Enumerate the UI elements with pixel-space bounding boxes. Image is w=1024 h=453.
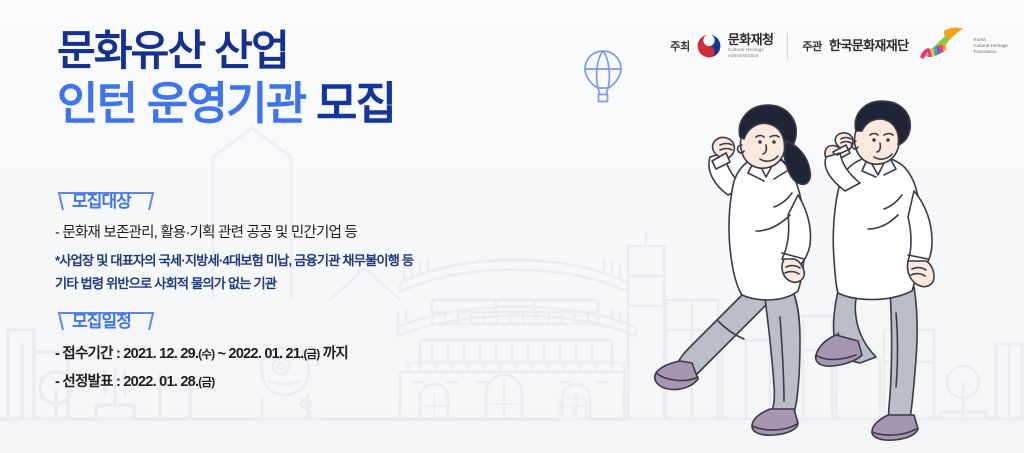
organizer-logo-group: 주관 한국문화재재단 Korea Cultural Heritage Fou (802, 26, 1008, 66)
organizer-role-label: 주관 (802, 38, 822, 54)
hot-air-balloon-icon (582, 48, 624, 104)
chf-swoosh-icon (916, 26, 964, 66)
organizer-name-en-block: Korea Cultural Heritage Foundation (974, 37, 1008, 55)
schedule-label-application: - 접수기간 : (55, 346, 123, 362)
schedule-tail-application: 까지 (319, 346, 347, 362)
headline-line-2-part2: 모집 (316, 78, 395, 129)
headline-line-2: 인턴 운영기관 모집 (57, 77, 395, 131)
section-tag-recruit-target: 모집대상 (55, 184, 148, 214)
headline-block: 문화유산 산업 인턴 운영기관 모집 (57, 26, 395, 131)
logo-divider (787, 33, 788, 59)
host-role-label: 주최 (670, 38, 690, 54)
recruit-target-note-1: *사업장 및 대표자의 국세·지방세·4대보험 미납, 금융기관 채무불이행 등 (55, 250, 413, 269)
schedule-row-application: - 접수기간 : 2021. 12. 29.(수) ~ 2022. 01. 21… (55, 342, 348, 363)
sponsor-logos: 주최 문화재청 Cultural Heritage Administration… (670, 26, 1008, 66)
schedule-day-application-end: (금) (303, 349, 319, 361)
recruit-target-note-2: 기타 법령 위반으로 사회적 물의가 없는 기관 (55, 273, 413, 292)
two-business-people-walking-illustration (640, 95, 1024, 453)
schedule-value-announcement: 2022. 01. 28. (123, 374, 198, 390)
schedule-value-application-start: 2021. 12. 29. (123, 346, 198, 362)
section-tag-label: 모집일정 (72, 312, 131, 331)
section-recruit-target: 모집대상 - 문화재 보존관리, 활용·기획 관련 공공 및 민간기업 등 *사… (55, 184, 413, 292)
schedule-row-announcement: - 선정발표 : 2022. 01. 28.(금) (55, 370, 348, 391)
organizer-name-ko: 한국문화재재단 (829, 39, 909, 53)
recruit-target-line-1: - 문화재 보존관리, 활용·기획 관련 공공 및 민간기업 등 (55, 221, 413, 242)
section-tag-label: 모집대상 (72, 192, 131, 211)
headline-line-1: 문화유산 산업 (57, 26, 395, 76)
headline-line-2-part1: 인턴 운영기관 (57, 78, 316, 129)
host-name-block: 문화재청 Cultural Heritage Administration (728, 33, 773, 59)
section-tag-recruit-schedule: 모집일정 (55, 304, 148, 334)
host-name-en-2: Administration (728, 53, 773, 59)
promo-banner: 문화유산 산업 인턴 운영기관 모집 주최 문화재청 Cultural Heri… (0, 0, 1024, 453)
schedule-day-announcement: (금) (198, 377, 214, 389)
organizer-name-en-3: Foundation (974, 49, 1008, 55)
host-name-ko: 문화재청 (728, 33, 773, 47)
taegeuk-icon (697, 34, 721, 58)
schedule-mid-application: ~ 2022. 01. 21. (214, 346, 303, 362)
schedule-label-announcement: - 선정발표 : (55, 374, 123, 390)
host-logo-group: 주최 문화재청 Cultural Heritage Administration (670, 33, 773, 59)
section-recruit-schedule: 모집일정 - 접수기간 : 2021. 12. 29.(수) ~ 2022. 0… (55, 304, 348, 391)
schedule-day-application-start: (수) (198, 349, 214, 361)
